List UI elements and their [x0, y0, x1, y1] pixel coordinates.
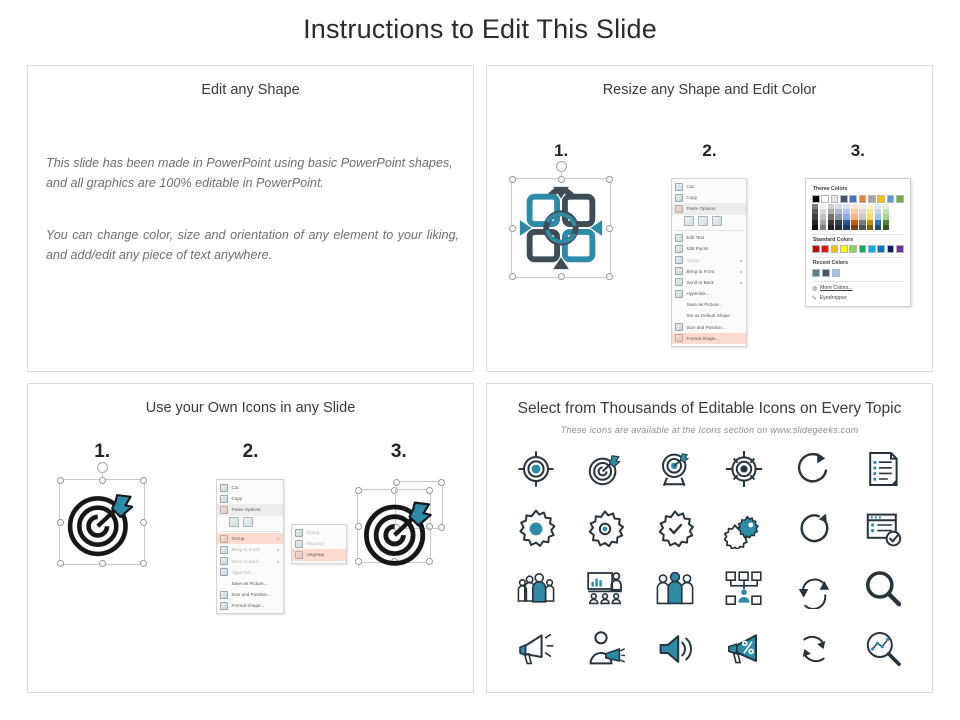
dartboard-arrow-icon[interactable] — [582, 446, 628, 492]
theme-color-column[interactable] — [851, 204, 857, 230]
theme-color-column[interactable] — [843, 204, 849, 230]
theme-variant-swatch[interactable] — [843, 225, 849, 230]
resize-handle-top-right[interactable] — [140, 477, 147, 484]
theme-variant-swatch[interactable] — [851, 225, 857, 230]
loudspeaker-icon[interactable] — [652, 626, 698, 672]
scissors-icon — [220, 484, 228, 492]
gear-check-icon[interactable] — [652, 506, 698, 552]
menu-label: Edit Text — [686, 235, 704, 240]
megaphone-icon[interactable] — [513, 626, 559, 672]
menu-item-send-to-back[interactable]: Send to Back▸ — [217, 555, 283, 566]
theme-color-variants[interactable] — [812, 204, 904, 230]
theme-color-column[interactable] — [875, 204, 881, 230]
group-submenu[interactable]: Group Regroup Ungroup — [291, 524, 347, 564]
resize-handle-middle-right[interactable] — [606, 225, 613, 232]
sync-arrows-icon[interactable] — [791, 566, 837, 612]
standard-color-swatch[interactable] — [868, 245, 876, 253]
refresh-arrow-icon[interactable] — [791, 446, 837, 492]
step-number-3: 3. — [784, 141, 932, 161]
standard-colors-row[interactable] — [812, 245, 904, 253]
menu-label: Cut — [231, 485, 238, 490]
menu-label: Cut — [686, 184, 693, 189]
panel-own-icons: Use your Own Icons in any Slide 1. 2. 3. — [27, 383, 474, 693]
theme-colors-row[interactable] — [812, 195, 904, 203]
scissors-icon — [675, 183, 683, 191]
paste-keep-formatting-icon[interactable] — [684, 216, 694, 226]
theme-variant-swatch[interactable] — [875, 225, 881, 230]
chevron-right-icon: ▸ — [740, 269, 742, 274]
theme-color-column[interactable] — [828, 204, 834, 230]
menu-item-size-and-position[interactable]: Size and Position... — [672, 322, 746, 333]
menu-label: Copy — [686, 195, 697, 200]
send-back-icon — [675, 278, 683, 286]
menu-item-copy[interactable]: Copy — [217, 493, 283, 504]
circular-arrow-icon[interactable] — [791, 506, 837, 552]
theme-color-swatch[interactable] — [896, 195, 904, 203]
panel-title-edit-shape: Edit any Shape — [28, 82, 473, 98]
menu-label: Size and Position... — [231, 592, 270, 597]
menu-item-format-shape[interactable]: Format Shape... — [672, 333, 746, 344]
clipboard-icon — [675, 205, 683, 213]
bring-front-icon — [220, 546, 228, 554]
crosshair-target-icon[interactable] — [513, 446, 559, 492]
resize-handle-bottom-left[interactable] — [509, 273, 516, 280]
copy-icon — [675, 194, 683, 202]
panel-title-resize-shape: Resize any Shape and Edit Color — [487, 82, 932, 98]
paste-picture-icon[interactable] — [712, 216, 722, 226]
paste-keep-formatting-icon[interactable] — [229, 517, 239, 527]
menu-label: Hyperlink... — [231, 570, 254, 575]
hyperlink-icon — [220, 568, 228, 576]
shot-grouped-icon — [28, 479, 176, 565]
edit-points-icon — [675, 245, 683, 253]
paste-merge-icon[interactable] — [698, 216, 708, 226]
standard-color-swatch[interactable] — [821, 245, 829, 253]
theme-variant-swatch[interactable] — [835, 225, 841, 230]
menu-item-save-as-picture[interactable]: Save as Picture... — [217, 578, 283, 589]
submenu-item-regroup[interactable]: Regroup — [292, 538, 346, 549]
recent-colors-label: Recent Colors — [813, 260, 904, 266]
menu-label: Hyperlink... — [686, 291, 709, 296]
standard-color-swatch[interactable] — [859, 245, 867, 253]
org-chart-icon[interactable] — [721, 566, 767, 612]
chevron-right-icon: ▸ — [277, 536, 279, 541]
menu-label: Send to Back — [686, 280, 713, 285]
rotate-handle-icon[interactable] — [556, 161, 567, 172]
three-people-icon[interactable] — [652, 566, 698, 612]
menu-label: Paste Options: — [231, 507, 261, 512]
menu-item-copy[interactable]: Copy — [672, 192, 746, 203]
resize-handle-bottom-left[interactable] — [57, 560, 64, 567]
bring-front-icon — [675, 267, 683, 275]
resize-handle-bottom-right[interactable] — [606, 273, 613, 280]
theme-color-column[interactable] — [867, 204, 873, 230]
panel-edit-any-shape: Edit any Shape This slide has been made … — [27, 65, 474, 372]
size-position-icon — [220, 591, 228, 599]
standard-color-swatch[interactable] — [896, 245, 904, 253]
menu-label: Bring to Front — [231, 547, 259, 552]
submenu-item-ungroup[interactable]: Ungroup — [292, 549, 346, 560]
gear-filled-icon[interactable] — [513, 506, 559, 552]
step-number-2: 2. — [635, 141, 783, 161]
theme-variant-swatch[interactable] — [867, 225, 873, 230]
menu-label: Copy — [231, 496, 242, 501]
menu-item-edit-text[interactable]: Edit Text — [672, 232, 746, 243]
context-menu-group[interactable]: Cut Copy Paste Options: Group▸ Bring to … — [216, 479, 284, 614]
edit-shape-paragraph-1: This slide has been made in PowerPoint u… — [46, 154, 459, 193]
recent-color-swatch[interactable] — [832, 269, 840, 277]
menu-label: Size and Position... — [686, 325, 725, 330]
menu-item-size-and-position[interactable]: Size and Position... — [217, 589, 283, 600]
context-menu-format[interactable]: Cut Copy Paste Options: Edit Text Edit P… — [671, 178, 747, 347]
theme-color-column[interactable] — [859, 204, 865, 230]
own-icons-steps: 1. 2. 3. — [28, 441, 473, 463]
theme-color-swatch[interactable] — [831, 195, 839, 203]
shot-group-context-menu: Cut Copy Paste Options: Group▸ Bring to … — [176, 479, 324, 614]
slide-canvas: Instructions to Edit This Slide Edit any… — [0, 0, 960, 720]
four-quadrant-shape-icon — [512, 179, 610, 277]
menu-item-paste-options[interactable]: Paste Options: — [217, 504, 283, 515]
resize-screenshots: Cut Copy Paste Options: Edit Text Edit P… — [487, 178, 932, 347]
theme-color-swatch[interactable] — [887, 195, 895, 203]
theme-color-swatch[interactable] — [859, 195, 867, 203]
theme-color-column[interactable] — [820, 204, 826, 230]
menu-item-hyperlink[interactable]: Hyperlink... — [672, 288, 746, 299]
page-title: Instructions to Edit This Slide — [0, 14, 960, 45]
theme-color-swatch[interactable] — [812, 195, 820, 203]
eyedropper-button[interactable]: ✎Eyedropper — [812, 294, 904, 302]
color-picker-panel[interactable]: Theme Colors Standard Colors Recent Colo… — [805, 178, 911, 307]
format-shape-icon — [675, 334, 683, 342]
resize-handle-middle-right[interactable] — [140, 519, 147, 526]
selection-frame-grouped[interactable] — [59, 479, 145, 565]
menu-label: Group — [306, 530, 319, 535]
size-position-icon — [675, 323, 683, 331]
menu-label: Set as Default Shape — [686, 313, 729, 318]
ungroup-icon — [295, 551, 303, 559]
standard-color-swatch[interactable] — [887, 245, 895, 253]
theme-colors-label: Theme Colors — [813, 186, 904, 192]
menu-divider — [675, 230, 743, 231]
chevron-right-icon: ▸ — [277, 559, 279, 564]
step-number-1: 1. — [487, 141, 635, 161]
paste-option-buttons[interactable] — [672, 215, 746, 229]
shot-color-picker: Theme Colors Standard Colors Recent Colo… — [784, 178, 932, 307]
menu-item-hyperlink[interactable]: Hyperlink... — [217, 567, 283, 578]
standard-color-swatch[interactable] — [812, 245, 820, 253]
menu-label: Regroup — [306, 541, 324, 546]
selection-frame[interactable] — [511, 178, 611, 278]
recent-colors-row[interactable] — [812, 269, 904, 277]
panel-subtitle-editable-icons: These icons are available at the Icons s… — [487, 425, 932, 435]
theme-variant-swatch[interactable] — [812, 225, 818, 230]
magnifier-chart-icon[interactable] — [860, 626, 906, 672]
group-icon — [675, 256, 683, 264]
gear-outline-icon[interactable] — [582, 506, 628, 552]
eyedropper-label: Eyedropper — [820, 295, 847, 301]
menu-item-edit-points[interactable]: Edit Points — [672, 243, 746, 254]
recent-color-swatch[interactable] — [812, 269, 820, 277]
menu-item-send-to-back[interactable]: Send to Back▸ — [672, 277, 746, 288]
menu-item-cut[interactable]: Cut — [217, 482, 283, 493]
shot-context-menu: Cut Copy Paste Options: Edit Text Edit P… — [635, 178, 783, 347]
menu-label: Bring to Front — [686, 269, 714, 274]
menu-label: Format Shape... — [686, 336, 719, 341]
format-shape-icon — [220, 602, 228, 610]
chevron-right-icon: ▸ — [740, 280, 742, 285]
theme-variant-swatch[interactable] — [859, 225, 865, 230]
step-number-3: 3. — [325, 441, 473, 463]
own-icons-screenshots: Cut Copy Paste Options: Group▸ Bring to … — [28, 479, 473, 614]
more-colors-label: More Colors... — [820, 285, 853, 291]
menu-item-group[interactable]: Group▸ — [672, 254, 746, 265]
menu-label: Save as Picture... — [231, 581, 267, 586]
menu-item-bring-to-front[interactable]: Bring to Front▸ — [672, 266, 746, 277]
standard-color-swatch[interactable] — [840, 245, 848, 253]
edit-shape-paragraph-2: You can change color, size and orientati… — [46, 226, 459, 265]
standard-colors-label: Standard Colors — [813, 237, 904, 243]
target-stand-icon[interactable] — [652, 446, 698, 492]
menu-item-save-as-picture[interactable]: Save as Picture... — [672, 299, 746, 310]
standard-color-swatch[interactable] — [849, 245, 857, 253]
menu-label: Send to Back — [231, 559, 258, 564]
chevron-right-icon: ▸ — [740, 258, 742, 263]
presentation-audience-icon[interactable] — [582, 566, 628, 612]
divider — [812, 234, 904, 235]
menu-item-set-default-shape[interactable]: Set as Default Shape — [672, 310, 746, 321]
menu-item-group[interactable]: Group▸ — [217, 533, 283, 544]
menu-item-cut[interactable]: Cut — [672, 181, 746, 192]
dartboard-arrow-icon — [60, 480, 144, 564]
panel-title-editable-icons: Select from Thousands of Editable Icons … — [487, 400, 932, 418]
hyperlink-icon — [675, 290, 683, 298]
step-number-1: 1. — [28, 441, 176, 463]
group-icon — [220, 535, 228, 543]
megaphone-percent-icon[interactable] — [721, 626, 767, 672]
dartboard-arrow-icon — [355, 485, 443, 573]
submenu-item-group[interactable]: Group — [292, 527, 346, 538]
person-megaphone-icon[interactable] — [582, 626, 628, 672]
divider — [812, 257, 904, 258]
theme-color-column[interactable] — [812, 204, 818, 230]
clipboard-icon — [220, 506, 228, 514]
theme-variant-swatch[interactable] — [828, 225, 834, 230]
theme-color-swatch[interactable] — [849, 195, 857, 203]
standard-color-swatch[interactable] — [831, 245, 839, 253]
document-check-icon[interactable] — [860, 506, 906, 552]
magnifier-icon[interactable] — [860, 566, 906, 612]
menu-label: Paste Options: — [686, 206, 716, 211]
menu-label: Edit Points — [686, 246, 708, 251]
panel-resize-shape: Resize any Shape and Edit Color 1. 2. 3. — [486, 65, 933, 372]
resize-handle-bottom-middle[interactable] — [558, 273, 565, 280]
theme-variant-swatch[interactable] — [883, 225, 889, 230]
palette-icon: ◍ — [812, 285, 817, 292]
crosshair-dot-icon[interactable] — [721, 446, 767, 492]
more-colors-button[interactable]: ◍More Colors... — [812, 284, 904, 292]
regroup-icon — [295, 540, 303, 548]
icon-gallery-grid — [501, 446, 918, 672]
chevron-right-icon: ▸ — [277, 547, 279, 552]
menu-item-bring-to-front[interactable]: Bring to Front▸ — [217, 544, 283, 555]
menu-label: Ungroup — [306, 552, 324, 557]
checklist-document-icon[interactable] — [860, 446, 906, 492]
group-icon — [295, 529, 303, 537]
rotate-handle-icon[interactable] — [97, 462, 108, 473]
menu-label: Group — [231, 536, 244, 541]
resize-handle-bottom-middle[interactable] — [99, 560, 106, 567]
theme-color-swatch[interactable] — [877, 195, 885, 203]
menu-item-format-shape[interactable]: Format Shape... — [217, 600, 283, 611]
panel-editable-icons: Select from Thousands of Editable Icons … — [486, 383, 933, 693]
menu-divider — [220, 531, 280, 532]
theme-variant-swatch[interactable] — [820, 225, 826, 230]
ungrouped-selection-area[interactable] — [353, 479, 445, 571]
menu-label: Format Shape... — [231, 603, 264, 608]
send-back-icon — [220, 557, 228, 565]
step-number-2: 2. — [176, 441, 324, 463]
menu-label: Save as Picture... — [686, 302, 722, 307]
theme-color-swatch[interactable] — [840, 195, 848, 203]
theme-color-column[interactable] — [835, 204, 841, 230]
standard-color-swatch[interactable] — [877, 245, 885, 253]
resize-handle-top-right[interactable] — [606, 176, 613, 183]
theme-color-swatch[interactable] — [821, 195, 829, 203]
theme-color-swatch[interactable] — [868, 195, 876, 203]
team-group-icon[interactable] — [513, 566, 559, 612]
resize-handle-bottom-right[interactable] — [140, 560, 147, 567]
double-gear-icon[interactable] — [721, 506, 767, 552]
menu-label: Group — [686, 258, 699, 263]
recent-color-swatch[interactable] — [822, 269, 830, 277]
resize-steps: 1. 2. 3. — [487, 141, 932, 161]
copy-icon — [220, 495, 228, 503]
paste-option-buttons[interactable] — [217, 516, 283, 530]
paste-picture-icon[interactable] — [243, 517, 253, 527]
menu-item-paste-options[interactable]: Paste Options: — [672, 203, 746, 214]
theme-color-column[interactable] — [883, 204, 889, 230]
rotate-arrows-icon[interactable] — [791, 626, 837, 672]
eyedropper-icon: ✎ — [812, 295, 817, 302]
panel-title-own-icons: Use your Own Icons in any Slide — [28, 400, 473, 416]
divider — [812, 281, 904, 282]
shot-selected-shape — [487, 178, 635, 278]
edit-text-icon — [675, 234, 683, 242]
